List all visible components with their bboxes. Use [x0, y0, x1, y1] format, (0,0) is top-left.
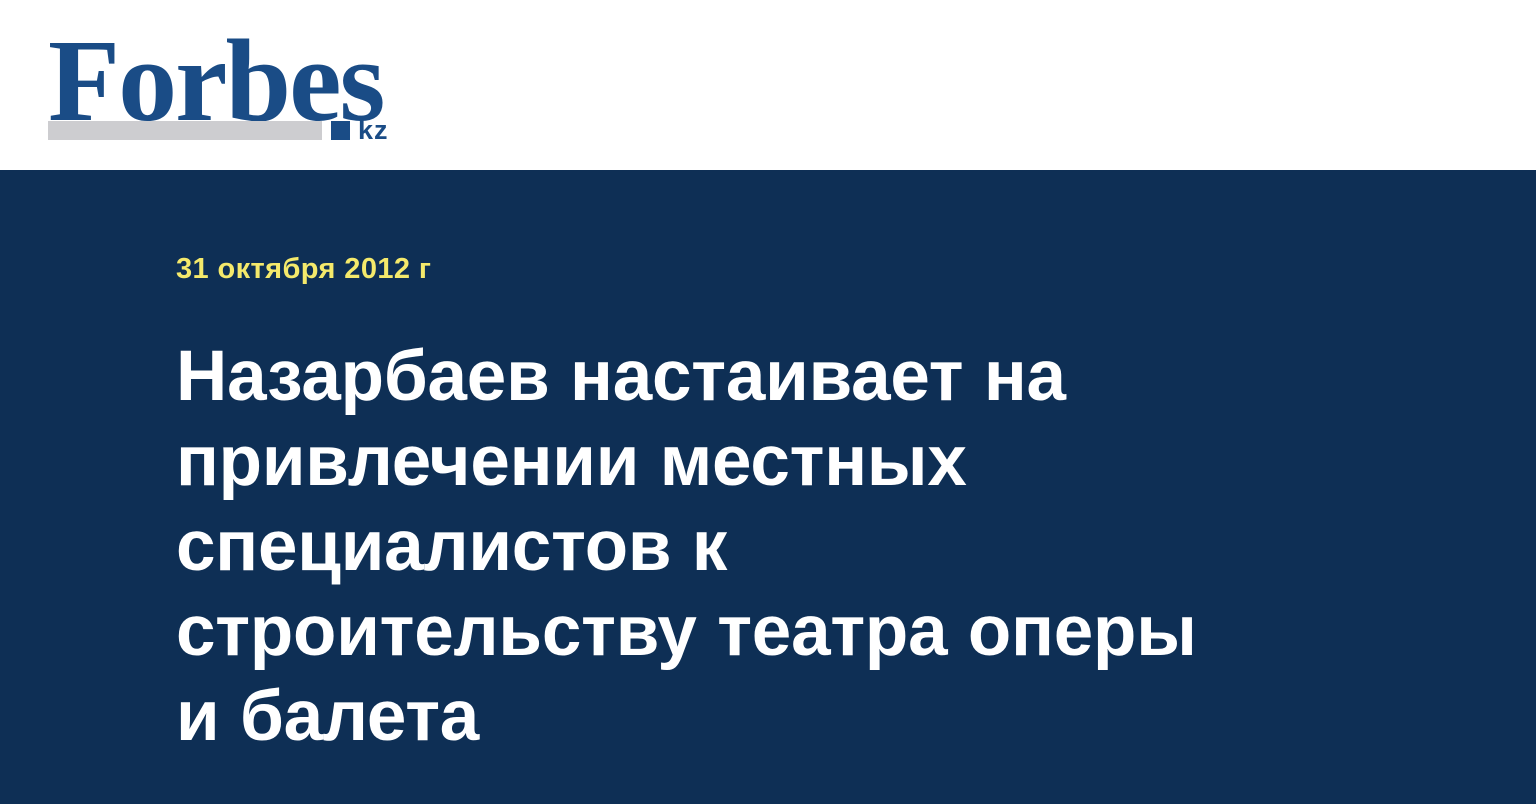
forbes-kz-logo[interactable]: Forbes kz — [48, 22, 408, 147]
hero-section: 31 октября 2012 г Назарбаев настаивает н… — [0, 170, 1536, 804]
logo-kz-suffix: kz — [358, 117, 389, 144]
article-date: 31 октября 2012 г — [176, 170, 1236, 286]
logo-navy-square-icon — [331, 121, 350, 140]
logo-gray-rule-icon — [48, 121, 322, 140]
site-header: Forbes kz — [0, 0, 1536, 170]
article-hero-page: Forbes kz 31 октября 2012 г Назарбаев на… — [0, 0, 1536, 804]
hero-content: 31 октября 2012 г Назарбаев настаивает н… — [176, 170, 1236, 759]
article-headline: Назарбаев настаивает на привлечении мест… — [176, 286, 1211, 759]
